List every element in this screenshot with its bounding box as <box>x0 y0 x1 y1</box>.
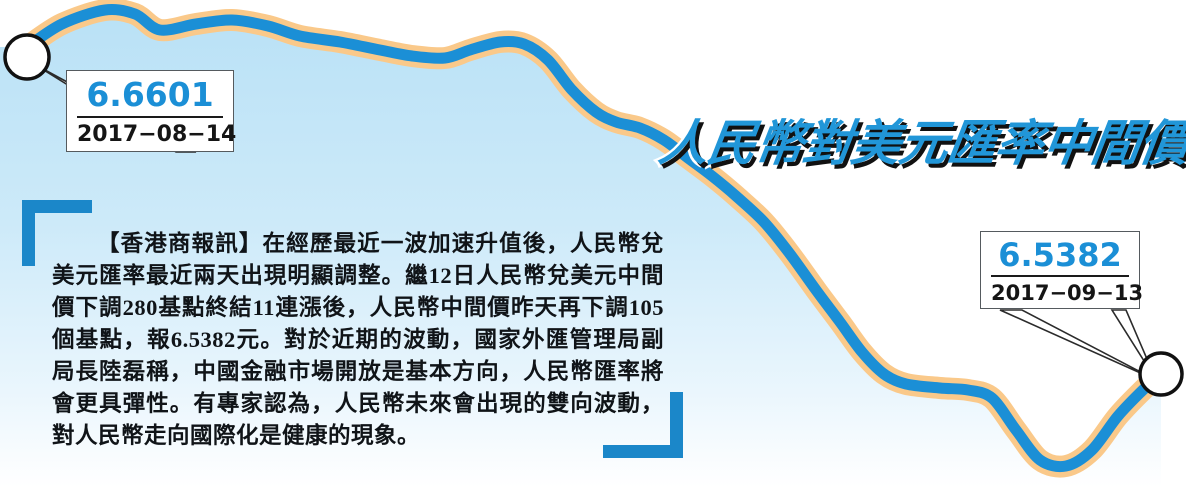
page-title: 人民幣對美元匯率中間價 <box>655 104 1186 175</box>
bracket-arm-vertical <box>22 200 35 266</box>
callout-end: 6.5382 2017−09−13 <box>980 231 1140 309</box>
callout-start-date: 2017−08−14 <box>77 120 223 150</box>
callout-divider <box>77 116 223 118</box>
callout-end-date: 2017−09−13 <box>991 279 1129 307</box>
end-point-marker <box>1140 353 1182 395</box>
article-paragraph: 【香港商報訊】在經歷最近一波加速升值後，人民幣兌美元匯率最近兩天出現明顯調整。繼… <box>52 228 664 452</box>
bracket-arm-vertical <box>670 392 683 458</box>
callout-start-value: 6.6601 <box>77 75 223 115</box>
callout-end-value: 6.5382 <box>991 236 1129 274</box>
infographic-canvas: 人民幣對美元匯率中間價 6.6601 2017−08−14 6.5382 201… <box>0 0 1186 487</box>
callout-divider <box>991 275 1129 277</box>
article-body: 【香港商報訊】在經歷最近一波加速升值後，人民幣兌美元匯率最近兩天出現明顯調整。繼… <box>52 228 664 452</box>
start-point-marker <box>5 35 49 79</box>
leader-pointer-right <box>1000 310 1156 380</box>
callout-start: 6.6601 2017−08−14 <box>66 70 234 152</box>
